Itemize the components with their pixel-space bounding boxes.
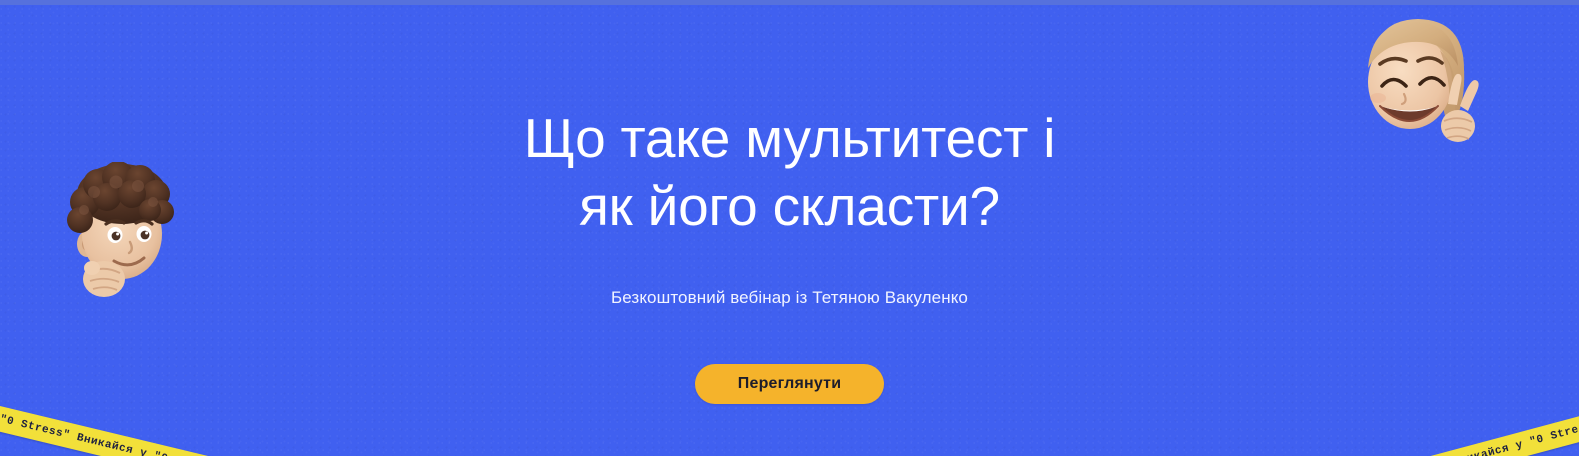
headline-line-2: як його скласти? (0, 172, 1579, 240)
caution-tape-left-text: кайся у "0 Stress" Вникайся у "0 Stress"… (0, 399, 379, 456)
hero-subtitle: Безкоштовний вебінар із Тетяною Вакуленк… (0, 288, 1579, 308)
watch-webinar-button[interactable]: Переглянути (695, 364, 884, 404)
page-title: Що таке мультитест і як його скласти? (0, 104, 1579, 240)
cta-container: Переглянути (0, 364, 1579, 404)
caution-tape-right-text: 0 Stress" Вникайся у "0 Stress" Вникайся (1378, 401, 1579, 456)
hero-banner: Що таке мультитест і як його скласти? Бе… (0, 0, 1579, 456)
headline-line-1: Що таке мультитест і (0, 104, 1579, 172)
top-edge-strip (0, 0, 1579, 5)
